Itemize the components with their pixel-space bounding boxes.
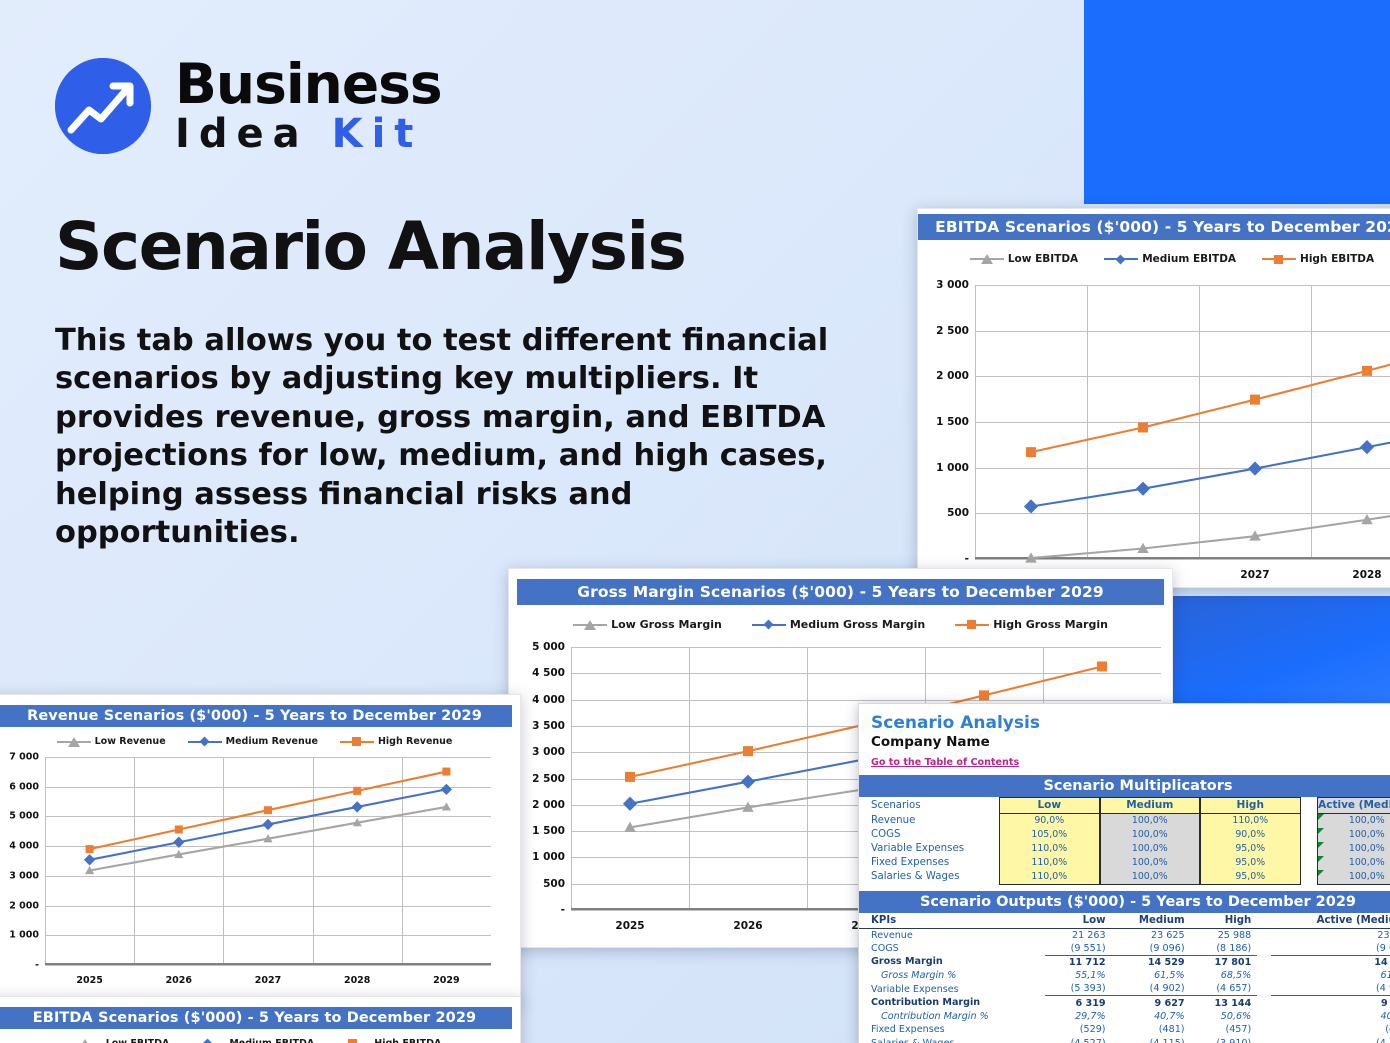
outputs-col-medium: Medium [1112, 913, 1191, 928]
legend-item-0[interactable]: Low EBITDA [68, 1038, 170, 1043]
y-axis-tick-label: 1 500 [936, 416, 969, 428]
outputs-low-7: (529) [1045, 1023, 1112, 1037]
outputs-active-2: 14 529 [1271, 955, 1390, 969]
legend-label: High EBITDA [374, 1038, 441, 1043]
x-axis-tick-label: 2029 [433, 975, 459, 986]
legend-item-1[interactable]: Medium EBITDA [1104, 253, 1236, 265]
y-axis-tick-label: - [561, 904, 565, 916]
outputs-low-3: 55,1% [1045, 969, 1112, 983]
outputs-col-high: High [1191, 913, 1258, 928]
y-axis-tick-label: 5 000 [532, 641, 565, 653]
chart-title: Gross Margin Scenarios ($'000) - 5 Years… [517, 579, 1164, 605]
cell-high-3[interactable]: 95,0% [1201, 856, 1300, 870]
outputs-row[interactable]: Gross Margin 11 712 14 529 17 801 14 529 [859, 955, 1390, 969]
scenario-multiplicators-table[interactable]: ScenariosRevenueCOGSVariable ExpensesFix… [859, 797, 1390, 885]
brand-name-secondary: Idea Kit [175, 114, 442, 154]
legend-item-2[interactable]: High EBITDA [1262, 253, 1374, 265]
page-description: This tab allows you to test different fi… [55, 322, 855, 553]
multiplicator-row-label-3: Fixed Expenses [871, 856, 999, 870]
cell-high-1[interactable]: 90,0% [1201, 828, 1300, 842]
y-axis-tick-label: 3 000 [936, 279, 969, 291]
outputs-row-label-3: Gross Margin % [859, 969, 1045, 983]
y-axis-tick-label: 2 000 [936, 370, 969, 382]
legend-marker-square-icon [1262, 254, 1296, 264]
outputs-active-3: 61,5% [1271, 969, 1390, 983]
scenario-outputs-table[interactable]: KPIs Low Medium High Active (Medium) Rev… [859, 913, 1390, 1043]
outputs-row-label-6: Contribution Margin % [859, 1010, 1045, 1024]
column-header-medium[interactable]: Medium [1100, 797, 1201, 814]
outputs-col-active: Active (Medium) [1271, 913, 1390, 928]
legend-marker-triangle-icon [573, 620, 607, 630]
legend-label: Low EBITDA [106, 1038, 170, 1043]
outputs-medium-5: 9 627 [1112, 996, 1191, 1010]
chart-card-ebitda-top[interactable]: EBITDA Scenarios ($'000) - 5 Years to De… [917, 208, 1390, 588]
brand-word-kit: Kit [332, 111, 423, 157]
outputs-medium-8: (4 115) [1112, 1037, 1191, 1043]
outputs-high-1: (8 186) [1191, 942, 1258, 956]
outputs-high-4: (4 657) [1191, 982, 1258, 996]
outputs-medium-1: (9 096) [1112, 942, 1191, 956]
table-of-contents-link[interactable]: Go to the Table of Contents [859, 756, 1019, 768]
outputs-low-5: 6 319 [1045, 996, 1112, 1010]
legend-marker-triangle-icon [57, 737, 91, 747]
outputs-row-label-2: Gross Margin [859, 955, 1045, 969]
legend-item-1[interactable]: Medium Gross Margin [752, 618, 925, 631]
outputs-low-8: (4 527) [1045, 1037, 1112, 1043]
legend-marker-diamond-icon [191, 1039, 225, 1043]
outputs-row[interactable]: Salaries & Wages (4 527) (4 115) (3 910)… [859, 1037, 1390, 1043]
outputs-active-6: 40,7% [1271, 1010, 1390, 1024]
outputs-medium-6: 40,7% [1112, 1010, 1191, 1024]
legend-item-2[interactable]: High Gross Margin [955, 618, 1108, 631]
y-axis-tick-label: 7 000 [9, 752, 39, 763]
cell-active-1[interactable]: 100,0% [1318, 828, 1390, 842]
outputs-active-4: (4 902) [1271, 982, 1390, 996]
legend-label: Medium EBITDA [229, 1038, 314, 1043]
y-axis-tick-label: 3 000 [532, 746, 565, 758]
legend-label: Medium Gross Margin [790, 618, 925, 631]
legend-marker-diamond-icon [1104, 254, 1138, 264]
outputs-row[interactable]: Fixed Expenses (529) (481) (457) (481) [859, 1023, 1390, 1037]
cell-medium-2[interactable]: 100,0% [1101, 842, 1200, 856]
chart-title: EBITDA Scenarios ($'000) - 5 Years to De… [0, 1007, 512, 1029]
slide-canvas: Business Idea Kit Scenario Analysis This… [0, 0, 1390, 1043]
outputs-row-label-1: COGS [859, 942, 1045, 956]
y-axis-tick-label: 1 000 [532, 851, 565, 863]
cell-low-3[interactable]: 110,0% [1000, 856, 1099, 870]
outputs-active-7: (481) [1271, 1023, 1390, 1037]
multiplicator-header-label: Scenarios [871, 797, 999, 814]
outputs-row[interactable]: Variable Expenses (5 393) (4 902) (4 657… [859, 982, 1390, 996]
column-values-low[interactable]: 90,0%105,0%110,0%110,0%110,0% [999, 814, 1100, 885]
brand-logo: Business Idea Kit [55, 57, 442, 154]
y-axis-tick-label: 1 500 [532, 825, 565, 837]
outputs-low-4: (5 393) [1045, 982, 1112, 996]
chart-legend[interactable]: Low EBITDA Medium EBITDA High EBITDA [918, 253, 1390, 265]
page-title: Scenario Analysis [55, 208, 685, 285]
scenario-multiplicators-band: Scenario Multiplicators [859, 775, 1390, 797]
multiplicator-column-high[interactable]: High 110,0%90,0%95,0%95,0%95,0% [1200, 797, 1301, 885]
gridline [45, 965, 491, 966]
cell-active-4[interactable]: 100,0% [1318, 870, 1390, 884]
y-axis-tick-label: 2 500 [532, 773, 565, 785]
y-axis-tick-label: 3 500 [532, 720, 565, 732]
x-axis-tick-label: 2025 [76, 975, 102, 986]
outputs-active-5: 9 627 [1271, 996, 1390, 1010]
y-axis-tick-label: 4 000 [9, 841, 39, 852]
cell-active-3[interactable]: 100,0% [1318, 856, 1390, 870]
scenario-analysis-panel[interactable]: Scenario Analysis Company Name Go to the… [858, 703, 1390, 1043]
outputs-active-0: 23 625 [1271, 928, 1390, 942]
multiplicator-row-label-0: Revenue [871, 814, 999, 828]
column-header-active[interactable]: Active (Medium) [1317, 797, 1390, 814]
legend-label: Low Gross Margin [611, 618, 722, 631]
chart-series-layer [975, 285, 1390, 559]
legend-marker-triangle-icon [68, 1039, 102, 1043]
outputs-row-label-4: Variable Expenses [859, 982, 1045, 996]
cell-low-4[interactable]: 110,0% [1000, 870, 1099, 884]
chart-legend[interactable]: Low Revenue Medium Revenue High Revenue [0, 736, 520, 747]
cell-medium-3[interactable]: 100,0% [1101, 856, 1200, 870]
cell-high-2[interactable]: 95,0% [1201, 842, 1300, 856]
cell-high-0[interactable]: 110,0% [1201, 814, 1300, 828]
legend-label: Medium EBITDA [1142, 253, 1236, 265]
outputs-high-0: 25 988 [1191, 928, 1258, 942]
column-values-medium[interactable]: 100,0%100,0%100,0%100,0%100,0% [1100, 814, 1201, 885]
cell-low-2[interactable]: 110,0% [1000, 842, 1099, 856]
chart-title: Revenue Scenarios ($'000) - 5 Years to D… [0, 705, 512, 727]
column-values-high[interactable]: 110,0%90,0%95,0%95,0%95,0% [1200, 814, 1301, 885]
cell-active-0[interactable]: 100,0% [1318, 814, 1390, 828]
y-axis-tick-label: 500 [543, 878, 565, 890]
legend-label: High Revenue [378, 736, 452, 747]
legend-marker-diamond-icon [752, 620, 786, 630]
outputs-low-2: 11 712 [1045, 955, 1112, 969]
legend-label: Low Revenue [95, 736, 166, 747]
outputs-col-kpis: KPIs [859, 913, 1045, 928]
growth-arrow-icon [55, 58, 151, 154]
multiplicator-row-label-2: Variable Expenses [871, 842, 999, 856]
x-axis-tick-label: 2026 [733, 920, 762, 932]
multiplicator-row-label-1: COGS [871, 828, 999, 842]
chart-legend[interactable]: Low EBITDA Medium EBITDA High EBITDA [0, 1038, 520, 1043]
outputs-high-2: 17 801 [1191, 955, 1258, 969]
x-axis-tick-label: 2027 [255, 975, 281, 986]
y-axis-tick-label: - [965, 553, 969, 565]
multiplicator-row-labels: ScenariosRevenueCOGSVariable ExpensesFix… [859, 797, 999, 885]
y-axis-tick-label: 1 000 [9, 930, 39, 941]
y-axis-tick-label: - [35, 960, 39, 971]
cell-low-1[interactable]: 105,0% [1000, 828, 1099, 842]
scenario-outputs-band: Scenario Outputs ($'000) - 5 Years to De… [859, 891, 1390, 913]
outputs-row[interactable]: Gross Margin % 55,1% 61,5% 68,5% 61,5% [859, 969, 1390, 983]
column-spacer [1301, 797, 1317, 885]
legend-item-0[interactable]: Low EBITDA [970, 253, 1078, 265]
legend-marker-square-icon [340, 737, 374, 747]
legend-marker-square-icon [336, 1039, 370, 1043]
legend-marker-diamond-icon [188, 737, 222, 747]
multiplicator-column-low[interactable]: Low 90,0%105,0%110,0%110,0%110,0% [999, 797, 1100, 885]
panel-company-name: Company Name [859, 733, 1390, 750]
outputs-high-8: (3 910) [1191, 1037, 1258, 1043]
y-axis-tick-label: 2 500 [936, 325, 969, 337]
outputs-row[interactable]: Contribution Margin 6 319 9 627 13 144 9… [859, 996, 1390, 1010]
legend-label: Medium Revenue [226, 736, 318, 747]
y-axis-tick-label: 2 000 [9, 900, 39, 911]
outputs-medium-3: 61,5% [1112, 969, 1191, 983]
cell-low-0[interactable]: 90,0% [1000, 814, 1099, 828]
outputs-col-low: Low [1045, 913, 1112, 928]
legend-item-2[interactable]: High EBITDA [336, 1038, 441, 1043]
cell-high-4[interactable]: 95,0% [1201, 870, 1300, 884]
x-axis-tick-label: 2028 [1352, 569, 1381, 581]
outputs-header-row: KPIs Low Medium High Active (Medium) [859, 913, 1390, 928]
cell-active-2[interactable]: 100,0% [1318, 842, 1390, 856]
gridline [975, 559, 1390, 560]
multiplicator-value-cells[interactable]: Low 90,0%105,0%110,0%110,0%110,0% Medium… [999, 797, 1390, 885]
outputs-medium-4: (4 902) [1112, 982, 1191, 996]
x-axis-tick-label: 2027 [1240, 569, 1269, 581]
legend-marker-triangle-icon [970, 254, 1004, 264]
chart-legend[interactable]: Low Gross Margin Medium Gross Margin Hig… [509, 618, 1172, 631]
y-axis-tick-label: 6 000 [9, 781, 39, 792]
y-axis-tick-label: 2 000 [532, 799, 565, 811]
brand-name-primary: Business [175, 57, 442, 112]
x-axis-tick-label: 2025 [615, 920, 644, 932]
chart-series-layer [45, 757, 491, 965]
chart-card-revenue[interactable]: Revenue Scenarios ($'000) - 5 Years to D… [0, 694, 521, 1006]
outputs-row[interactable]: COGS (9 551) (9 096) (8 186) (9 096) [859, 942, 1390, 956]
outputs-row-label-0: Revenue [859, 928, 1045, 942]
outputs-high-3: 68,5% [1191, 969, 1258, 983]
y-axis-tick-label: 500 [947, 507, 969, 519]
x-axis-tick-label: 2026 [166, 975, 192, 986]
cell-medium-4[interactable]: 100,0% [1101, 870, 1200, 884]
legend-item-0[interactable]: Low Revenue [57, 736, 166, 747]
outputs-high-5: 13 144 [1191, 996, 1258, 1010]
column-header-low[interactable]: Low [999, 797, 1100, 814]
outputs-low-1: (9 551) [1045, 942, 1112, 956]
brand-word-idea: Idea [175, 111, 309, 157]
legend-label: Low EBITDA [1008, 253, 1078, 265]
outputs-row-label-7: Fixed Expenses [859, 1023, 1045, 1037]
panel-title: Scenario Analysis [859, 704, 1390, 733]
outputs-active-8: (4 115) [1271, 1037, 1390, 1043]
outputs-row[interactable]: Revenue 21 263 23 625 25 988 23 625 [859, 928, 1390, 942]
outputs-high-6: 50,6% [1191, 1010, 1258, 1024]
outputs-medium-0: 23 625 [1112, 928, 1191, 942]
accent-block-mid-right [1170, 596, 1390, 706]
legend-label: High Gross Margin [993, 618, 1108, 631]
multiplicator-column-active[interactable]: Active (Medium) 100,0%100,0%100,0%100,0%… [1317, 797, 1390, 885]
legend-label: High EBITDA [1300, 253, 1374, 265]
legend-marker-square-icon [955, 620, 989, 630]
outputs-row[interactable]: Contribution Margin % 29,7% 40,7% 50,6% … [859, 1010, 1390, 1024]
outputs-low-0: 21 263 [1045, 928, 1112, 942]
legend-item-2[interactable]: High Revenue [340, 736, 452, 747]
cell-medium-1[interactable]: 100,0% [1101, 828, 1200, 842]
chart-plot-area: 3 0002 5002 0001 5001 000500-20252026202… [975, 285, 1390, 559]
outputs-row-label-8: Salaries & Wages [859, 1037, 1045, 1043]
outputs-row-label-5: Contribution Margin [859, 996, 1045, 1010]
chart-card-ebitda-bottom[interactable]: EBITDA Scenarios ($'000) - 5 Years to De… [0, 996, 521, 1043]
outputs-low-6: 29,7% [1045, 1010, 1112, 1024]
outputs-active-1: (9 096) [1271, 942, 1390, 956]
y-axis-tick-label: 3 000 [9, 870, 39, 881]
chart-title: EBITDA Scenarios ($'000) - 5 Years to De… [918, 214, 1390, 240]
legend-item-1[interactable]: Medium Revenue [188, 736, 318, 747]
cell-medium-0[interactable]: 100,0% [1101, 814, 1200, 828]
y-axis-tick-label: 4 500 [532, 667, 565, 679]
column-values-active[interactable]: 100,0%100,0%100,0%100,0%100,0% [1317, 814, 1390, 885]
outputs-medium-2: 14 529 [1112, 955, 1191, 969]
multiplicator-row-label-4: Salaries & Wages [871, 870, 999, 884]
legend-item-0[interactable]: Low Gross Margin [573, 618, 722, 631]
x-axis-tick-label: 2028 [344, 975, 370, 986]
y-axis-tick-label: 5 000 [9, 811, 39, 822]
y-axis-tick-label: 4 000 [532, 694, 565, 706]
legend-item-1[interactable]: Medium EBITDA [191, 1038, 314, 1043]
multiplicator-column-medium[interactable]: Medium 100,0%100,0%100,0%100,0%100,0% [1100, 797, 1201, 885]
y-axis-tick-label: 1 000 [936, 462, 969, 474]
outputs-high-7: (457) [1191, 1023, 1258, 1037]
chart-plot-area: 7 0006 0005 0004 0003 0002 0001 000-2025… [45, 757, 491, 965]
column-header-high[interactable]: High [1200, 797, 1301, 814]
outputs-medium-7: (481) [1112, 1023, 1191, 1037]
accent-block-top-right [1084, 0, 1390, 204]
